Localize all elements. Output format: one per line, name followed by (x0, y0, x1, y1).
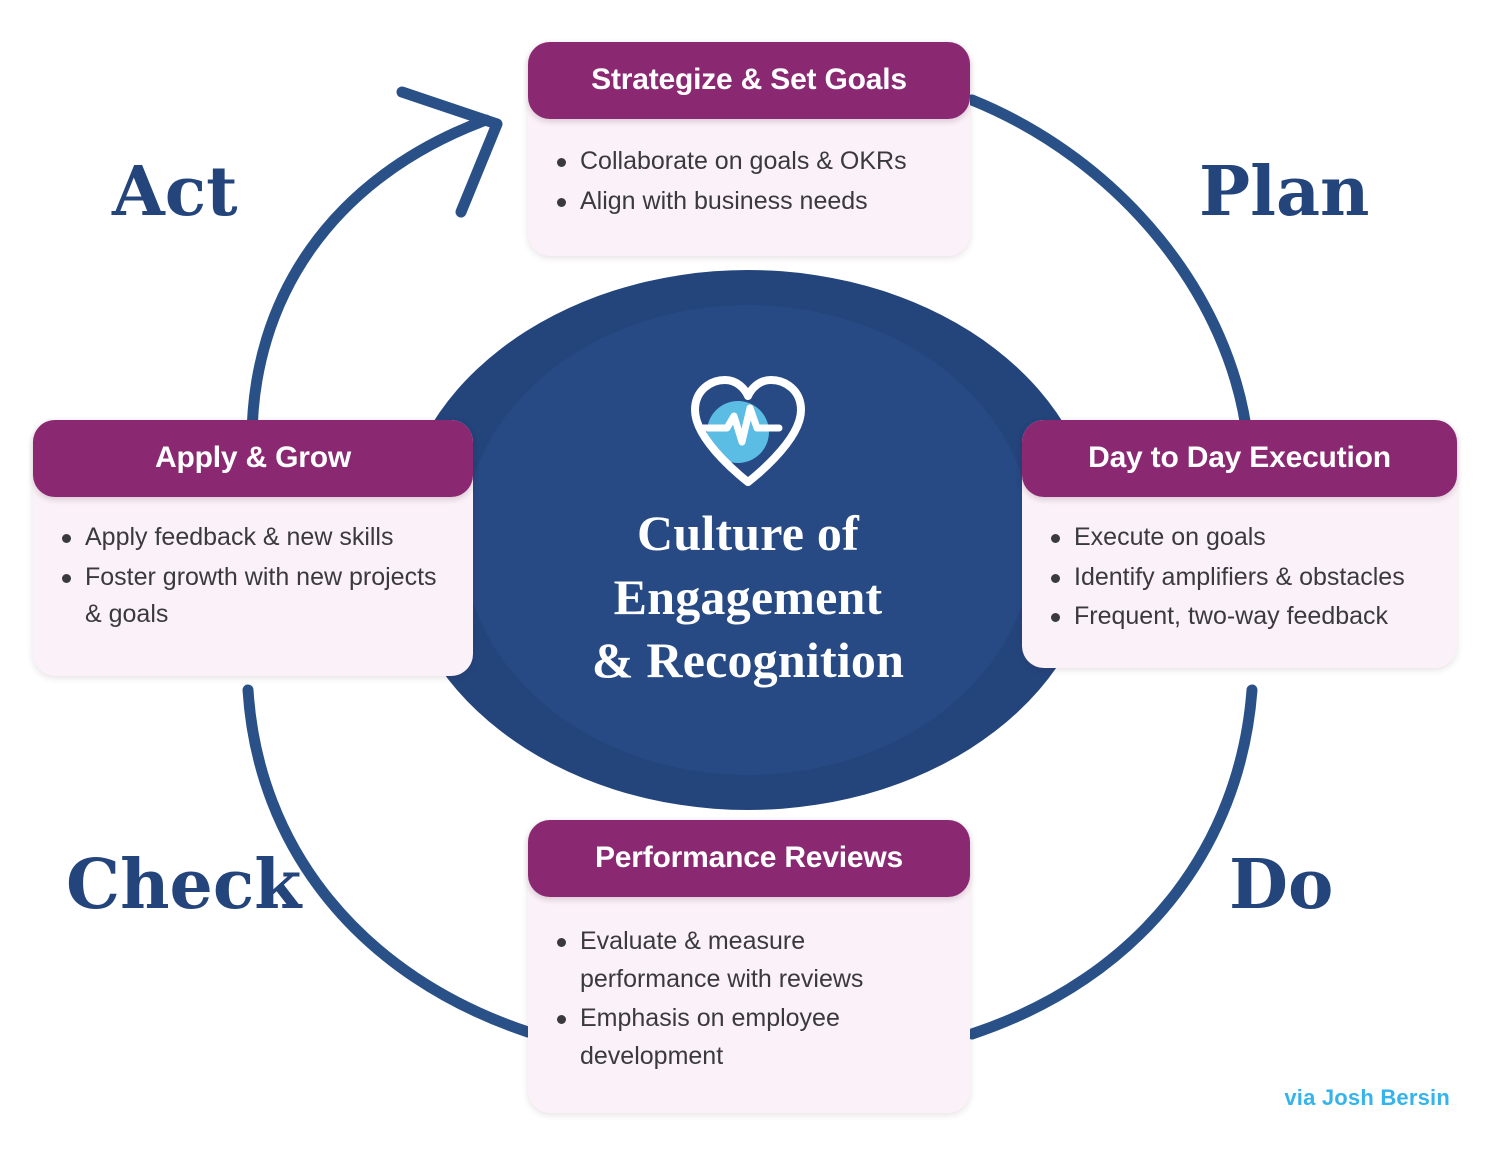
card-right-bullet-list: Execute on goals Identify amplifiers & o… (1040, 519, 1437, 636)
diagram-canvas: Culture of Engagement & Recognition Stra… (0, 0, 1500, 1162)
card-bottom-bullet-list: Evaluate & measure performance with revi… (546, 923, 950, 1075)
heart-pulse-icon (683, 370, 813, 490)
quadrant-label-check: Check (66, 845, 301, 925)
card-top-body: Collaborate on goals & OKRs Align with b… (528, 119, 970, 256)
card-left-bullet-list: Apply feedback & new skills Foster growt… (51, 519, 453, 634)
card-performance-reviews[interactable]: Performance Reviews Evaluate & measure p… (528, 820, 970, 1113)
card-top-bullet-list: Collaborate on goals & OKRs Align with b… (546, 143, 950, 220)
card-day-to-day-execution[interactable]: Day to Day Execution Execute on goals Id… (1022, 420, 1457, 668)
center-title-line-3: & Recognition (398, 629, 1098, 693)
card-apply-grow[interactable]: Apply & Grow Apply feedback & new skills… (33, 420, 473, 676)
quadrant-label-do: Do (1229, 845, 1333, 925)
center-title: Culture of Engagement & Recognition (398, 502, 1098, 693)
list-item: Execute on goals (1074, 519, 1437, 557)
list-item: Align with business needs (580, 183, 950, 221)
quadrant-label-plan: Plan (1199, 152, 1369, 232)
quadrant-label-act: Act (112, 152, 238, 232)
card-left-body: Apply feedback & new skills Foster growt… (33, 497, 473, 676)
card-bottom-body: Evaluate & measure performance with revi… (528, 897, 970, 1113)
list-item: Foster growth with new projects & goals (85, 559, 453, 634)
card-top-title: Strategize & Set Goals (528, 42, 970, 119)
card-right-title: Day to Day Execution (1022, 420, 1457, 497)
card-bottom-title: Performance Reviews (528, 820, 970, 897)
arc-do (972, 690, 1252, 1034)
center-title-line-2: Engagement (398, 566, 1098, 630)
list-item: Evaluate & measure performance with revi… (580, 923, 950, 998)
list-item: Apply feedback & new skills (85, 519, 453, 557)
list-item: Emphasis on employee development (580, 1000, 950, 1075)
attribution-text: via Josh Bersin (1284, 1085, 1450, 1111)
card-strategize-set-goals[interactable]: Strategize & Set Goals Collaborate on go… (528, 42, 970, 256)
card-right-body: Execute on goals Identify amplifiers & o… (1022, 497, 1457, 668)
list-item: Identify amplifiers & obstacles (1074, 559, 1437, 597)
card-left-title: Apply & Grow (33, 420, 473, 497)
list-item: Collaborate on goals & OKRs (580, 143, 950, 181)
list-item: Frequent, two-way feedback (1074, 598, 1437, 636)
center-circle: Culture of Engagement & Recognition (398, 270, 1098, 810)
center-title-line-1: Culture of (398, 502, 1098, 566)
